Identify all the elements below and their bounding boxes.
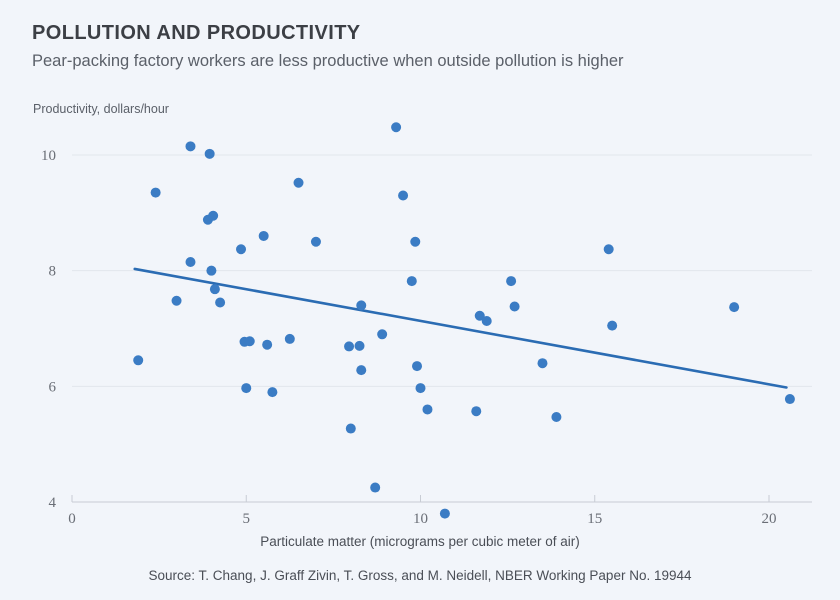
data-point — [412, 361, 422, 371]
data-point — [377, 329, 387, 339]
data-point — [215, 297, 225, 307]
scatter-plot: 4681005101520 — [0, 0, 840, 600]
data-point — [133, 355, 143, 365]
y-tick-label-4: 4 — [49, 495, 57, 511]
data-point — [241, 383, 251, 393]
data-point — [391, 122, 401, 132]
data-point — [208, 211, 218, 221]
data-point — [172, 296, 182, 306]
x-tick-label-5: 5 — [243, 511, 251, 527]
y-tick-label-6: 6 — [49, 379, 57, 395]
x-tick-label-0: 0 — [68, 511, 76, 527]
data-point — [510, 302, 520, 312]
data-point — [236, 244, 246, 254]
data-point — [205, 149, 215, 159]
data-point — [206, 266, 216, 276]
data-point — [356, 300, 366, 310]
data-point — [440, 509, 450, 519]
data-point — [482, 316, 492, 326]
data-point — [604, 244, 614, 254]
data-point — [185, 257, 195, 267]
data-point — [311, 237, 321, 247]
data-point — [346, 424, 356, 434]
trend-line — [135, 269, 787, 388]
x-tick-label-10: 10 — [413, 511, 428, 527]
chart-figure: POLLUTION AND PRODUCTIVITY Pear-packing … — [0, 0, 840, 600]
x-tick-label-15: 15 — [587, 511, 602, 527]
data-point — [356, 365, 366, 375]
y-tick-label-8: 8 — [49, 264, 57, 280]
data-point — [471, 406, 481, 416]
data-point — [537, 358, 547, 368]
data-point — [210, 284, 220, 294]
data-point — [370, 483, 380, 493]
data-point — [398, 190, 408, 200]
data-point — [294, 178, 304, 188]
data-point — [267, 387, 277, 397]
data-point — [344, 341, 354, 351]
data-point — [355, 341, 365, 351]
data-point — [151, 188, 161, 198]
data-point — [506, 276, 516, 286]
data-point — [422, 404, 432, 414]
data-point — [729, 302, 739, 312]
data-point — [607, 321, 617, 331]
data-point — [410, 237, 420, 247]
data-point — [259, 231, 269, 241]
source-note: Source: T. Chang, J. Graff Zivin, T. Gro… — [0, 568, 840, 583]
data-point — [262, 340, 272, 350]
data-point — [407, 276, 417, 286]
data-point — [185, 141, 195, 151]
data-point — [785, 394, 795, 404]
data-point — [285, 334, 295, 344]
data-point — [416, 383, 426, 393]
x-axis-label: Particulate matter (micrograms per cubic… — [0, 534, 840, 549]
x-tick-label-20: 20 — [762, 511, 777, 527]
y-tick-label-10: 10 — [41, 148, 56, 164]
data-point — [245, 336, 255, 346]
data-point — [551, 412, 561, 422]
